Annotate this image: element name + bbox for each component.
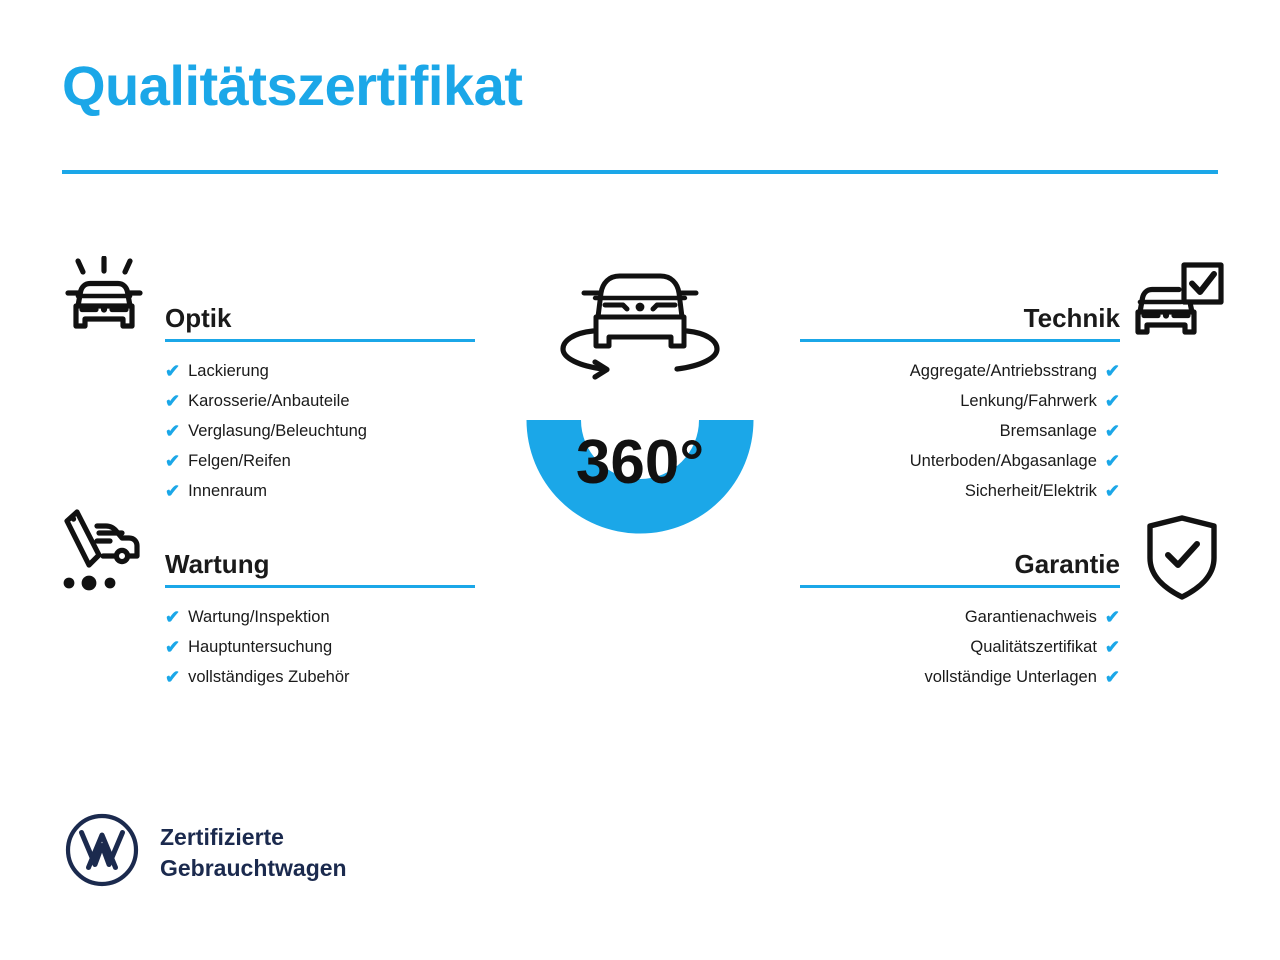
list-item-label: vollständige Unterlagen bbox=[924, 662, 1096, 692]
check-icon: ✔ bbox=[1105, 482, 1120, 500]
badge-center-label: 360° bbox=[576, 428, 704, 497]
checklist: Garantienachweis✔ Qualitätszertifikat✔ v… bbox=[800, 602, 1120, 692]
check-icon: ✔ bbox=[165, 362, 180, 380]
header-divider bbox=[62, 170, 1218, 174]
checklist: ✔Wartung/Inspektion ✔Hauptuntersuchung ✔… bbox=[165, 602, 475, 692]
check-icon: ✔ bbox=[165, 608, 180, 626]
list-item-label: Garantienachweis bbox=[965, 602, 1097, 632]
section-header: Wartung bbox=[165, 542, 475, 588]
check-icon: ✔ bbox=[1105, 392, 1120, 410]
check-icon: ✔ bbox=[1105, 452, 1120, 470]
list-item-label: Sicherheit/Elektrik bbox=[965, 476, 1097, 506]
list-item: Aggregate/Antriebsstrang✔ bbox=[800, 356, 1120, 386]
list-item-label: Wartung/Inspektion bbox=[188, 602, 330, 632]
section-title: Optik bbox=[165, 303, 231, 334]
list-item-label: Karosserie/Anbauteile bbox=[188, 386, 349, 416]
list-item: Bremsanlage✔ bbox=[800, 416, 1120, 446]
volkswagen-logo bbox=[64, 812, 140, 893]
list-item-label: Lenkung/Fahrwerk bbox=[960, 386, 1097, 416]
car-service-tool-icon bbox=[58, 508, 150, 601]
list-item-label: Felgen/Reifen bbox=[188, 446, 291, 476]
shield-check-icon bbox=[1142, 514, 1222, 607]
brand-text: Zertifizierte Gebrauchtwagen bbox=[160, 822, 347, 883]
section-header: Optik bbox=[165, 296, 475, 342]
list-item: Unterboden/Abgasanlage✔ bbox=[800, 446, 1120, 476]
check-icon: ✔ bbox=[165, 452, 180, 470]
car-checkbox-icon bbox=[1134, 262, 1226, 353]
list-item: ✔Wartung/Inspektion bbox=[165, 602, 475, 632]
list-item: ✔vollständiges Zubehör bbox=[165, 662, 475, 692]
check-icon: ✔ bbox=[1105, 362, 1120, 380]
check-icon: ✔ bbox=[1105, 668, 1120, 686]
check-icon: ✔ bbox=[165, 668, 180, 686]
section-header: Technik bbox=[800, 296, 1120, 342]
section-title: Wartung bbox=[165, 549, 269, 580]
brand-line-2: Gebrauchtwagen bbox=[160, 853, 347, 883]
certificate-page: Qualitätszertifikat bbox=[0, 0, 1280, 960]
checklist: Aggregate/Antriebsstrang✔ Lenkung/Fahrwe… bbox=[800, 356, 1120, 506]
list-item-label: vollständiges Zubehör bbox=[188, 662, 349, 692]
list-item-label: Lackierung bbox=[188, 356, 269, 386]
list-item: ✔Karosserie/Anbauteile bbox=[165, 386, 475, 416]
list-item: ✔Felgen/Reifen bbox=[165, 446, 475, 476]
list-item: ✔Hauptuntersuchung bbox=[165, 632, 475, 662]
brand-line-1: Zertifizierte bbox=[160, 822, 347, 852]
list-item-label: Unterboden/Abgasanlage bbox=[910, 446, 1097, 476]
list-item: vollständige Unterlagen✔ bbox=[800, 662, 1120, 692]
section-header: Garantie bbox=[800, 542, 1120, 588]
list-item: Sicherheit/Elektrik✔ bbox=[800, 476, 1120, 506]
section-wartung: Wartung ✔Wartung/Inspektion ✔Hauptunters… bbox=[165, 542, 475, 692]
list-item: Lenkung/Fahrwerk✔ bbox=[800, 386, 1120, 416]
check-icon: ✔ bbox=[165, 638, 180, 656]
list-item-label: Innenraum bbox=[188, 476, 267, 506]
check-icon: ✔ bbox=[1105, 638, 1120, 656]
list-item-label: Verglasung/Beleuchtung bbox=[188, 416, 367, 446]
section-technik: Technik Aggregate/Antriebsstrang✔ Lenkun… bbox=[800, 296, 1120, 506]
section-garantie: Garantie Garantienachweis✔ Qualitätszert… bbox=[800, 542, 1120, 692]
gebrauchtwagen-check-badge: Gebrauchtwagen-Check 360° bbox=[455, 245, 825, 645]
section-title: Technik bbox=[1024, 303, 1120, 334]
check-icon: ✔ bbox=[165, 422, 180, 440]
check-icon: ✔ bbox=[1105, 422, 1120, 440]
list-item: ✔Verglasung/Beleuchtung bbox=[165, 416, 475, 446]
section-optik: Optik ✔Lackierung ✔Karosserie/Anbauteile… bbox=[165, 296, 475, 506]
section-underline bbox=[165, 585, 475, 588]
car-rotate-360-icon bbox=[563, 276, 717, 377]
page-title: Qualitätszertifikat bbox=[62, 58, 522, 114]
list-item: Qualitätszertifikat✔ bbox=[800, 632, 1120, 662]
list-item-label: Aggregate/Antriebsstrang bbox=[910, 356, 1097, 386]
list-item: ✔Innenraum bbox=[165, 476, 475, 506]
brand-lockup: Zertifizierte Gebrauchtwagen bbox=[64, 812, 347, 893]
list-item-label: Bremsanlage bbox=[1000, 416, 1097, 446]
list-item: ✔Lackierung bbox=[165, 356, 475, 386]
section-title: Garantie bbox=[1015, 549, 1121, 580]
list-item-label: Hauptuntersuchung bbox=[188, 632, 332, 662]
check-icon: ✔ bbox=[1105, 608, 1120, 626]
car-shine-icon bbox=[62, 256, 146, 353]
list-item-label: Qualitätszertifikat bbox=[970, 632, 1097, 662]
check-icon: ✔ bbox=[165, 392, 180, 410]
list-item: Garantienachweis✔ bbox=[800, 602, 1120, 632]
check-icon: ✔ bbox=[165, 482, 180, 500]
section-underline bbox=[165, 339, 475, 342]
section-underline bbox=[800, 339, 1120, 342]
section-underline bbox=[800, 585, 1120, 588]
checklist: ✔Lackierung ✔Karosserie/Anbauteile ✔Verg… bbox=[165, 356, 475, 506]
